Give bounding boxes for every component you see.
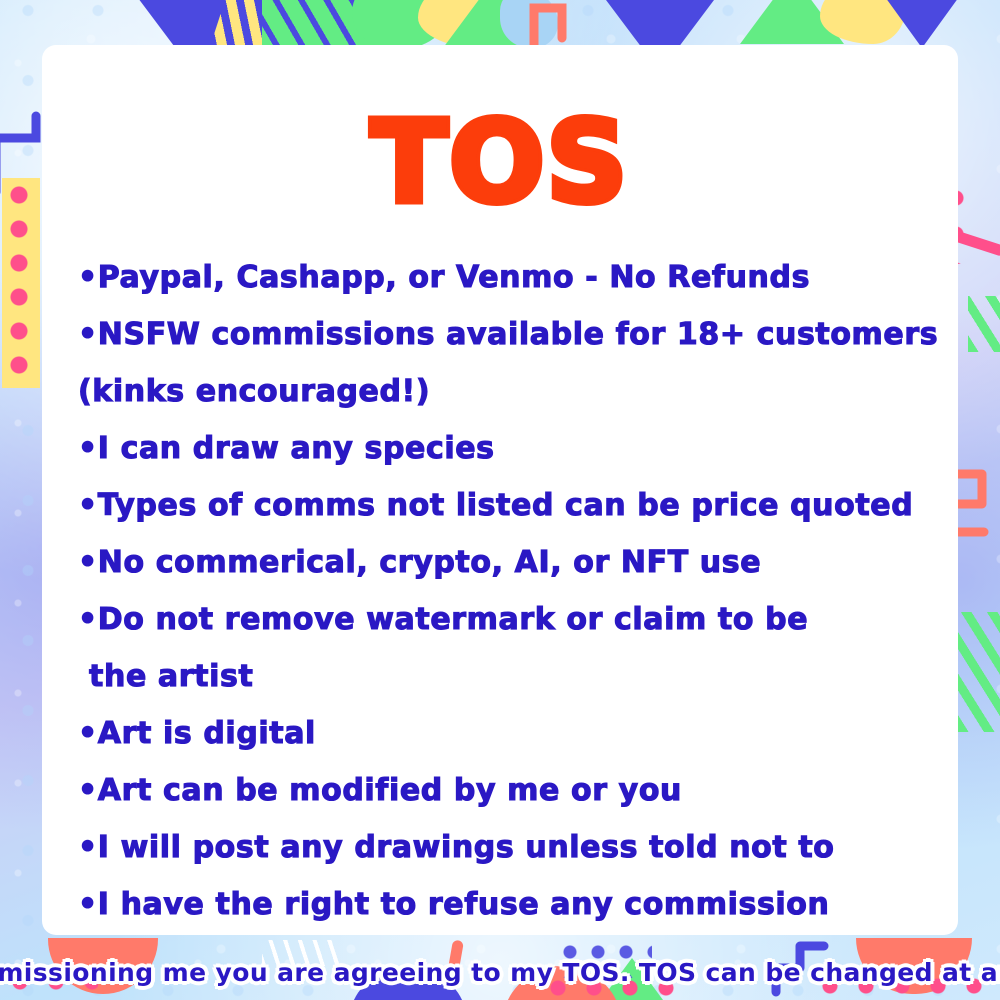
list-item: •Art is digital [78, 705, 958, 762]
list-item: •Do not remove watermark or claim to be [78, 591, 958, 648]
list-item: •Art can be modified by me or you [78, 762, 958, 819]
tos-poster: TOS •Paypal, Cashapp, or Venmo - No Refu… [0, 0, 1000, 1000]
list-item: •Types of comms not listed can be price … [78, 477, 958, 534]
pink-dots-decoration [2, 964, 98, 1000]
list-item: •I can draw any species [78, 420, 958, 477]
list-item: the artist [78, 648, 958, 705]
list-item: •Paypal, Cashapp, or Venmo - No Refunds [78, 249, 958, 306]
list-item: •NSFW commissions available for 18+ cust… [78, 306, 958, 363]
blue-triangle-decoration [880, 0, 964, 48]
page-title: TOS [42, 45, 958, 219]
white-diagonal-ticks-decoration [262, 940, 342, 966]
pink-polka-dots-decoration [2, 178, 40, 388]
list-item: •No commerical, crypto, AI, or NFT use [78, 534, 958, 591]
green-diagonal-stripes-decoration [958, 612, 1000, 732]
list-item: •I have the right to refuse any commissi… [78, 876, 958, 933]
list-item: (kinks encouraged!) [78, 363, 958, 420]
pink-dots-decoration [540, 970, 680, 1000]
tos-card: TOS •Paypal, Cashapp, or Venmo - No Refu… [42, 45, 958, 935]
rules-list: •Paypal, Cashapp, or Venmo - No Refunds … [42, 219, 958, 933]
green-dashes-decoration [968, 296, 1000, 352]
pink-dots-decoration [812, 968, 982, 1000]
list-item: •I will post any drawings unless told no… [78, 819, 958, 876]
